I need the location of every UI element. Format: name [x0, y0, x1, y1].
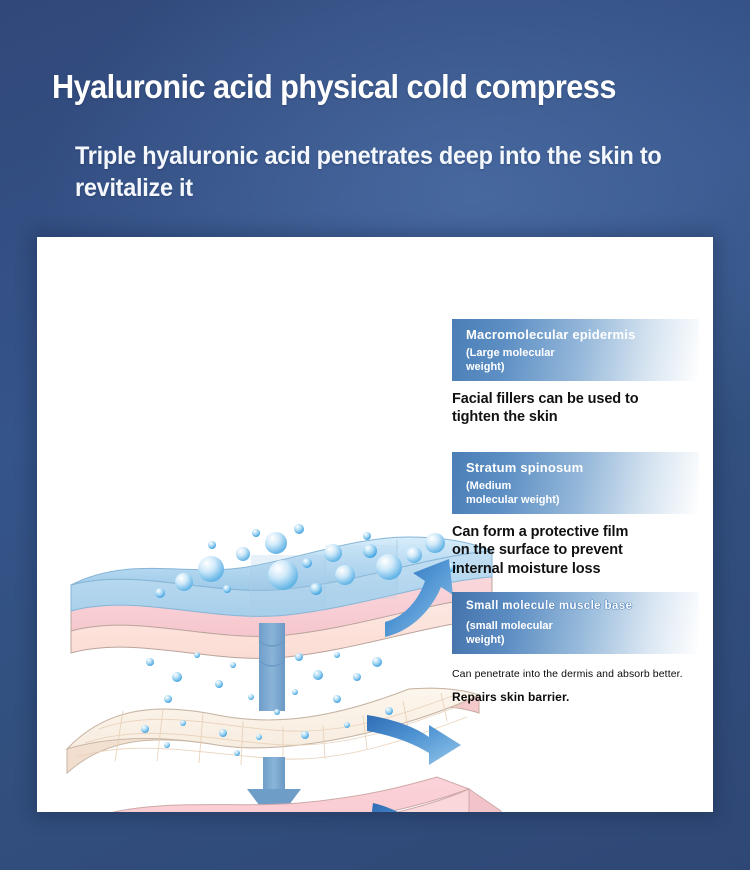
label-title-1: Macromolecular epidermis: [466, 327, 636, 342]
label-subtitle-1: (Large molecular weight): [466, 347, 555, 375]
label-block-stratum-spinosum: Stratum spinosum (Medium molecular weigh…: [452, 452, 702, 578]
label-header-2: Stratum spinosum (Medium molecular weigh…: [452, 452, 699, 514]
label-body-3-line1: Can penetrate into the dermis and absorb…: [452, 668, 702, 681]
page-title: Hyaluronic acid physical cold compress: [52, 70, 666, 105]
label-body-3-line2: Repairs skin barrier.: [452, 690, 702, 705]
label-block-macromolecular-epidermis: Macromolecular epidermis (Large molecula…: [452, 319, 702, 427]
label-title-2: Stratum spinosum: [466, 460, 583, 475]
page-subtitle: Triple hyaluronic acid penetrates deep i…: [75, 140, 677, 204]
label-block-small-molecule-muscle-base: Small molecule muscle base (small molecu…: [452, 592, 702, 706]
label-subtitle-3: (small molecular weight): [466, 620, 553, 648]
heading-zone: Hyaluronic acid physical cold compress T…: [0, 0, 750, 232]
label-body-1: Facial fillers can be used to tighten th…: [452, 390, 702, 427]
content-card: Macromolecular epidermis (Large molecula…: [37, 237, 713, 812]
label-header-1: Macromolecular epidermis (Large molecula…: [452, 319, 699, 381]
label-subtitle-2: (Medium molecular weight): [466, 480, 560, 508]
label-body-2: Can form a protective film on the surfac…: [452, 523, 702, 578]
label-title-3: Small molecule muscle base: [466, 600, 632, 612]
poster-root: Hyaluronic acid physical cold compress T…: [0, 0, 750, 870]
label-header-3: Small molecule muscle base (small molecu…: [452, 592, 699, 654]
vertical-penetration-arrow-upper: [259, 623, 285, 711]
